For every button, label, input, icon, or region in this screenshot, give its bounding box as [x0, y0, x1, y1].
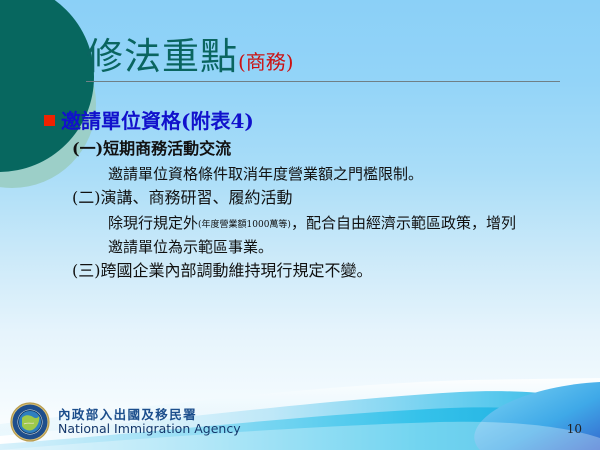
slide-canvas: 修法重點(商務) 邀請單位資格(附表4) (一)短期商務活動交流 邀請單位資格條…: [0, 0, 600, 450]
bullet-item-1: (一)短期商務活動交流: [72, 137, 584, 162]
bullet-level1-label: 邀請單位資格(附表4): [61, 108, 254, 135]
slide-title-main: 修法重點: [86, 35, 238, 78]
detail-text-annotation: (年度營業額1000萬等): [198, 220, 291, 230]
page-number: 10: [567, 422, 582, 436]
bullet-item-1-detail: 邀請單位資格條件取消年度營業額之門檻限制。: [108, 162, 584, 186]
slide-title-sub: (商務): [238, 50, 294, 74]
footer-org-name: 內政部入出國及移民署 National Immigration Agency: [58, 408, 241, 436]
red-square-bullet-icon: [44, 115, 55, 126]
slide-title: 修法重點(商務): [86, 38, 566, 75]
title-divider: [86, 81, 560, 82]
slide-title-block: 修法重點(商務): [86, 38, 566, 82]
footer-branding: 內政部入出國及移民署 National Immigration Agency: [10, 402, 241, 442]
footer-org-name-zh: 內政部入出國及移民署: [58, 408, 241, 422]
detail-text-after: ，配合自由經濟示範區政策，增列: [291, 214, 516, 232]
globe-emblem-icon: [10, 402, 50, 442]
bullet-item-2: (二)演講、商務研習、履約活動: [72, 186, 584, 211]
footer-org-name-en: National Immigration Agency: [58, 422, 241, 436]
bullet-item-2-detail-line1: 除現行規定外(年度營業額1000萬等)，配合自由經濟示範區政策，增列: [108, 211, 584, 235]
bullet-item-2-detail-line2: 邀請單位為示範區事業。: [108, 235, 584, 259]
slide-body: 邀請單位資格(附表4) (一)短期商務活動交流 邀請單位資格條件取消年度營業額之…: [44, 108, 584, 283]
detail-text-before: 除現行規定外: [108, 214, 198, 232]
bullet-item-3: (三)跨國企業內部調動維持現行規定不變。: [72, 259, 584, 284]
bullet-level1: 邀請單位資格(附表4): [44, 108, 584, 135]
